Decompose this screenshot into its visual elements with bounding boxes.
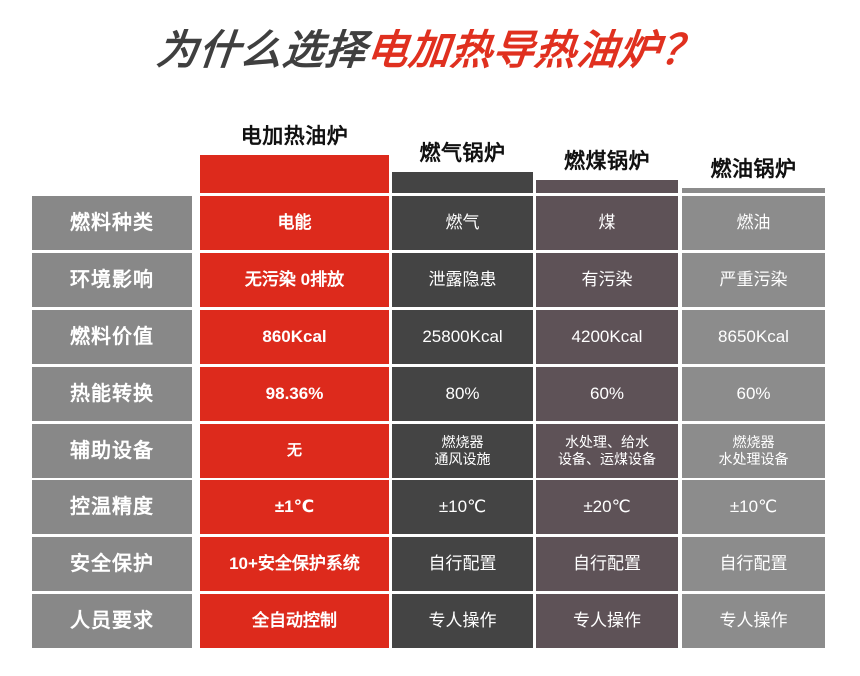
cell-oil: 60%	[682, 367, 825, 421]
cell-value: 专人操作	[720, 610, 788, 631]
cell-value: ±10℃	[439, 496, 486, 517]
cell-value: 水处理、给水 设备、运煤设备	[558, 434, 656, 469]
cell-value: 燃烧器 通风设施	[435, 434, 491, 469]
cell-coal: 有污染	[536, 253, 678, 307]
cell-value: 自行配置	[720, 553, 788, 574]
cell-value: 自行配置	[429, 553, 497, 574]
cell-oil: 8650Kcal	[682, 310, 825, 364]
cell-coal: 60%	[536, 367, 678, 421]
row-label: 人员要求	[32, 594, 192, 648]
cell-oil: ±10℃	[682, 480, 825, 534]
cell-coal: 4200Kcal	[536, 310, 678, 364]
cell-value: 860Kcal	[262, 326, 326, 347]
column-header-label-gas: 燃气锅炉	[392, 137, 533, 167]
comparison-table: 电加热油炉燃气锅炉燃煤锅炉燃油锅炉燃料种类电能燃气煤燃油环境影响无污染 0排放泄…	[0, 0, 860, 676]
cell-value: 有污染	[582, 269, 633, 290]
row-label: 环境影响	[32, 253, 192, 307]
cell-value: 严重污染	[720, 269, 788, 290]
cell-oil: 自行配置	[682, 537, 825, 591]
column-header-bar-coal	[536, 180, 678, 193]
column-header-label-coal: 燃煤锅炉	[536, 145, 678, 175]
column-header-bar-oil	[682, 188, 825, 193]
row-label: 辅助设备	[32, 424, 192, 478]
cell-value: 煤	[599, 212, 616, 233]
cell-value: 4200Kcal	[572, 326, 643, 347]
cell-electric: 电能	[200, 196, 389, 250]
cell-value: ±10℃	[730, 496, 777, 517]
column-header-label-electric: 电加热油炉	[200, 120, 389, 150]
cell-value: 80%	[445, 383, 479, 404]
row-label: 燃料价值	[32, 310, 192, 364]
cell-coal: 自行配置	[536, 537, 678, 591]
cell-electric: ±1℃	[200, 480, 389, 534]
cell-electric: 无污染 0排放	[200, 253, 389, 307]
cell-value: 98.36%	[266, 383, 324, 404]
cell-gas: 25800Kcal	[392, 310, 533, 364]
row-label: 燃料种类	[32, 196, 192, 250]
cell-value: 10+安全保护系统	[229, 553, 360, 574]
cell-oil: 专人操作	[682, 594, 825, 648]
cell-electric: 10+安全保护系统	[200, 537, 389, 591]
cell-value: 泄露隐患	[429, 269, 497, 290]
cell-oil: 燃烧器 水处理设备	[682, 424, 825, 478]
cell-gas: 燃烧器 通风设施	[392, 424, 533, 478]
column-header-bar-gas	[392, 172, 533, 193]
cell-gas: 专人操作	[392, 594, 533, 648]
cell-electric: 98.36%	[200, 367, 389, 421]
cell-value: 8650Kcal	[718, 326, 789, 347]
cell-value: 25800Kcal	[422, 326, 502, 347]
row-label: 控温精度	[32, 480, 192, 534]
cell-electric: 860Kcal	[200, 310, 389, 364]
cell-value: 全自动控制	[252, 610, 337, 631]
cell-value: 无	[287, 442, 302, 461]
cell-gas: 燃气	[392, 196, 533, 250]
cell-value: 无污染 0排放	[245, 269, 344, 290]
cell-value: ±1℃	[275, 496, 314, 517]
row-label: 安全保护	[32, 537, 192, 591]
cell-oil: 燃油	[682, 196, 825, 250]
row-label: 热能转换	[32, 367, 192, 421]
cell-value: 专人操作	[573, 610, 641, 631]
cell-gas: 80%	[392, 367, 533, 421]
cell-coal: ±20℃	[536, 480, 678, 534]
cell-coal: 煤	[536, 196, 678, 250]
cell-oil: 严重污染	[682, 253, 825, 307]
cell-gas: ±10℃	[392, 480, 533, 534]
column-header-bar-electric	[200, 155, 389, 193]
cell-value: 60%	[736, 383, 770, 404]
cell-value: 60%	[590, 383, 624, 404]
column-header-label-oil: 燃油锅炉	[682, 153, 825, 183]
cell-electric: 全自动控制	[200, 594, 389, 648]
cell-electric: 无	[200, 424, 389, 478]
cell-value: 燃油	[737, 212, 771, 233]
cell-value: 电能	[278, 212, 312, 233]
cell-value: 燃烧器 水处理设备	[719, 434, 789, 469]
cell-value: ±20℃	[583, 496, 630, 517]
cell-coal: 水处理、给水 设备、运煤设备	[536, 424, 678, 478]
cell-value: 燃气	[446, 212, 480, 233]
cell-gas: 泄露隐患	[392, 253, 533, 307]
cell-value: 专人操作	[429, 610, 497, 631]
cell-coal: 专人操作	[536, 594, 678, 648]
cell-value: 自行配置	[573, 553, 641, 574]
cell-gas: 自行配置	[392, 537, 533, 591]
